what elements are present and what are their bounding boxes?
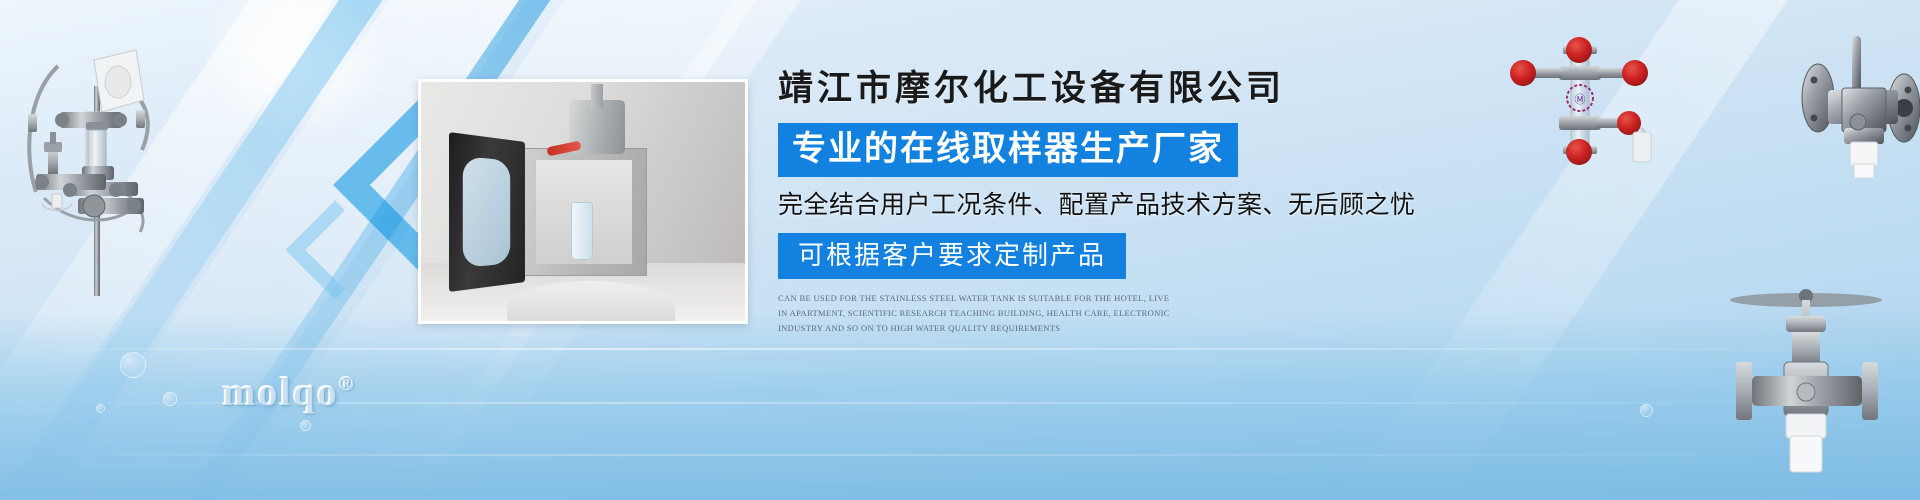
wave-line [0, 454, 1920, 456]
watermark-logo: molqo® [222, 368, 356, 415]
bubble-icon [96, 404, 105, 413]
right-top-product-image: Ⓜ [1505, 36, 1685, 166]
right-mid-product-image [1800, 30, 1920, 190]
bubble-icon [163, 392, 177, 406]
registered-mark-icon: ® [339, 374, 356, 396]
subheadline: 完全结合用户工况条件、配置产品技术方案、无后顾之忧 [778, 191, 1398, 220]
tagline-badge: 可根据客户要求定制产品 [778, 233, 1126, 279]
company-name: 靖江市摩尔化工设备有限公司 [778, 70, 1398, 109]
wave-line [0, 348, 1920, 350]
promo-banner: Ⓜ [0, 0, 1920, 500]
bubble-icon [1640, 404, 1653, 417]
bubble-icon [300, 420, 311, 431]
watermark-text: molqo [222, 369, 339, 414]
fineprint-text: CAN BE USED FOR THE STAINLESS STEEL WATE… [778, 291, 1178, 336]
text-content: 靖江市摩尔化工设备有限公司 专业的在线取样器生产厂家 完全结合用户工况条件、配置… [778, 70, 1398, 336]
headline-badge: 专业的在线取样器生产厂家 [778, 123, 1238, 177]
left-product-image [8, 26, 188, 296]
right-bottom-product-image [1706, 276, 1916, 496]
center-photo [418, 79, 748, 324]
svg-text:Ⓜ: Ⓜ [1575, 93, 1586, 106]
bubble-icon [120, 352, 146, 378]
